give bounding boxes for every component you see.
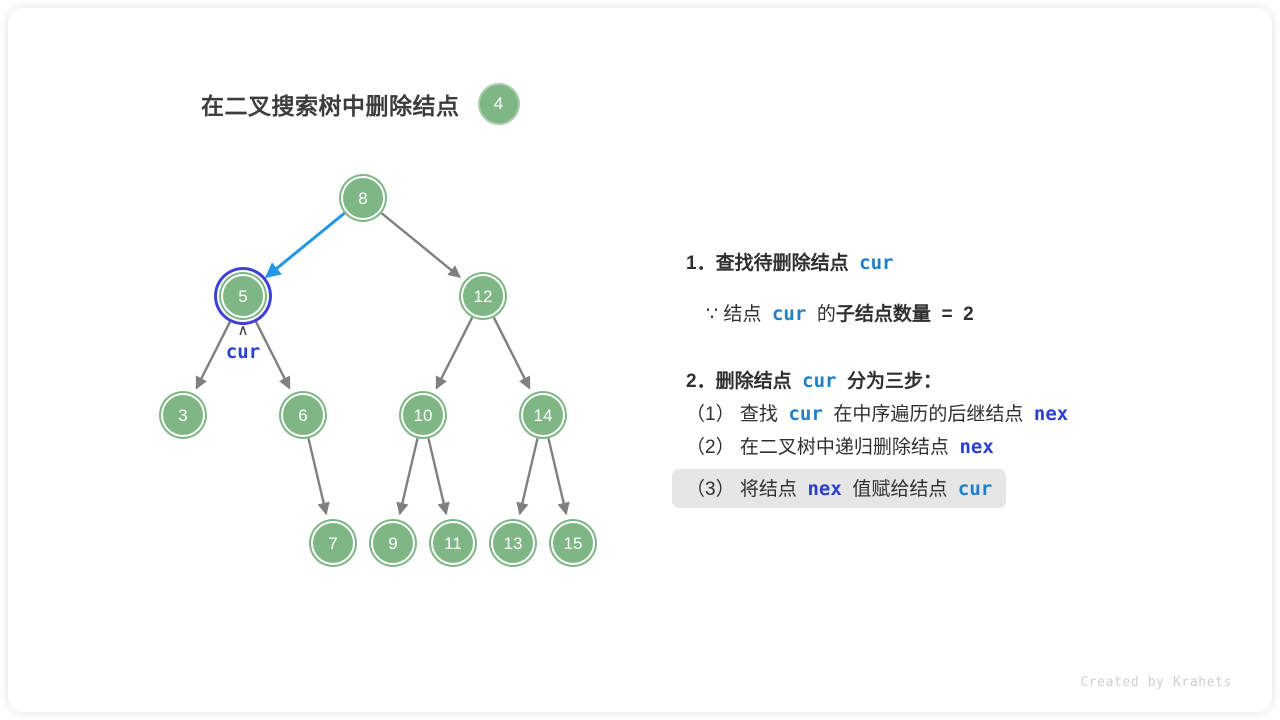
tree-node-label: 7 — [328, 535, 337, 552]
tree-node-label: 13 — [504, 535, 523, 552]
tree-edge-8-12 — [382, 213, 460, 277]
tree-node-9: 9 — [371, 521, 415, 565]
cur-pointer-label: cur — [226, 341, 260, 363]
substep-mid: 值赋给结点 — [852, 474, 947, 501]
substep-mid: 在中序遍历的后继结点 — [833, 399, 1023, 426]
tree-node-7: 7 — [311, 521, 355, 565]
reason-symbol: ∵ — [706, 303, 718, 326]
step-2-heading: 2．删除结点 cur 分为三步： — [686, 366, 1226, 393]
substep-pre: 将结点 — [740, 474, 797, 501]
substep-var-nex: nex — [1034, 403, 1068, 425]
tree-node-12: 12 — [461, 274, 505, 318]
tree-node-label: 11 — [444, 535, 462, 552]
tree-node-10: 10 — [401, 393, 445, 437]
tree-edge-10-9 — [400, 438, 418, 513]
substep-var-nex: nex — [959, 436, 993, 458]
substep-var-cur: cur — [958, 478, 992, 500]
spacer — [947, 479, 958, 501]
substep-row-3: （3） 将结点 nex 值赋给结点 cur — [686, 465, 1226, 508]
substep-row-2: （2） 在二叉树中递归删除结点 nex — [686, 432, 1226, 459]
step-1-line: 1．查找待删除结点 cur — [686, 248, 1226, 275]
tree-edge-14-13 — [520, 438, 538, 513]
tree-node-3: 3 — [161, 393, 205, 437]
step-2-substeps: （1） 查找 cur 在中序遍历的后继结点 nex（2） 在二叉树中递归删除结点… — [686, 399, 1226, 508]
substep-content: （1） 查找 cur 在中序遍历的后继结点 nex — [686, 399, 1068, 426]
substep-var-cur: cur — [788, 403, 822, 425]
tree-edge-14-15 — [548, 438, 566, 513]
substep-highlighted: （3） 将结点 nex 值赋给结点 cur — [672, 469, 1006, 508]
tree-node-13: 13 — [491, 521, 535, 565]
tree-node-5: 5 — [221, 274, 265, 318]
tree-node-label: 15 — [564, 535, 583, 552]
reason-line: ∵ 结点 cur 的 子结点数量 = 2 — [686, 299, 1226, 326]
tree-node-15: 15 — [551, 521, 595, 565]
step-2-block: 2．删除结点 cur 分为三步： （1） 查找 cur 在中序遍历的后继结点 n… — [686, 366, 1226, 508]
step-2-pre: 2．删除结点 — [686, 366, 792, 393]
substep-row-1: （1） 查找 cur 在中序遍历的后继结点 nex — [686, 399, 1226, 426]
reason-value: 2 — [963, 304, 974, 326]
tree-node-label: 9 — [388, 535, 397, 552]
spacer — [778, 404, 789, 426]
substep-pre: 在二叉树中递归删除结点 — [740, 432, 949, 459]
step-1-var-cur: cur — [859, 252, 893, 274]
tree-node-14: 14 — [521, 393, 565, 437]
slide-card: 在二叉搜索树中删除结点 4 851236101479111315 ∧ cur 1… — [8, 8, 1272, 712]
tree-node-label: 12 — [474, 288, 493, 305]
tree-edge-6-7 — [308, 438, 326, 513]
substep-var-nex: nex — [807, 478, 841, 500]
step-2-post: 分为三步： — [847, 366, 942, 393]
tree-node-label: 8 — [358, 190, 367, 207]
substep-content: （2） 在二叉树中递归删除结点 nex — [686, 432, 994, 459]
tree-node-label: 10 — [414, 407, 433, 424]
cur-pointer-caret: ∧ — [238, 321, 249, 339]
reason-mid: 的 — [817, 299, 836, 326]
tree-edge-10-11 — [428, 438, 446, 513]
spacer — [842, 479, 853, 501]
substep-index: （1） — [686, 399, 735, 426]
tree-node-label: 3 — [178, 407, 187, 424]
step-2-var-cur: cur — [802, 370, 836, 392]
spacer — [797, 479, 808, 501]
tree-node-6: 6 — [281, 393, 325, 437]
step-1-text: 1．查找待删除结点 — [686, 248, 849, 275]
tree-node-8: 8 — [341, 176, 385, 220]
reason-eq: = — [941, 304, 952, 326]
substep-pre: 查找 — [740, 399, 778, 426]
tree-node-label: 14 — [534, 407, 553, 424]
tree-node-label: 5 — [238, 288, 247, 305]
tree-edge-12-10 — [437, 317, 473, 388]
substep-index: （3） — [686, 474, 735, 501]
spacer — [823, 404, 834, 426]
spacer — [1023, 404, 1034, 426]
explanation-panel: 1．查找待删除结点 cur ∵ 结点 cur 的 子结点数量 = 2 2．删除结… — [686, 248, 1226, 508]
binary-search-tree-diagram: 851236101479111315 ∧ cur — [8, 8, 668, 628]
reason-bold: 子结点数量 — [836, 299, 931, 326]
spacer — [949, 437, 960, 459]
reason-pre: 结点 — [723, 299, 761, 326]
tree-edge-12-14 — [494, 317, 530, 388]
tree-node-label: 6 — [298, 407, 307, 424]
substep-index: （2） — [686, 432, 735, 459]
tree-edge-8-5 — [266, 213, 344, 277]
reason-var-cur: cur — [772, 303, 806, 325]
credit-footer: Created by Krahets — [1080, 675, 1232, 690]
tree-node-11: 11 — [431, 521, 475, 565]
